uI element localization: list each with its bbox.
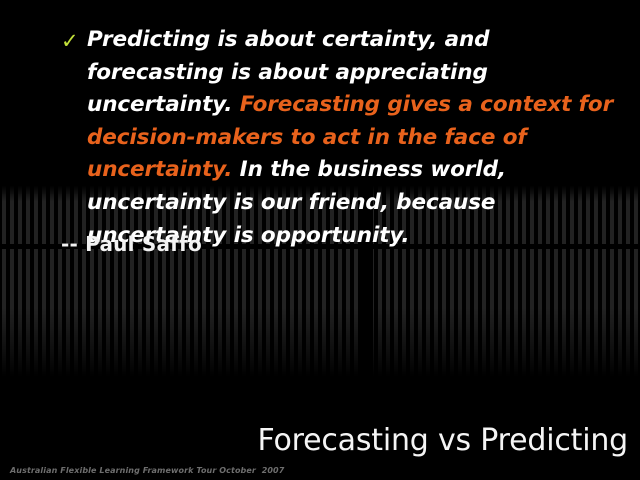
check-icon: ✓ [61, 30, 81, 52]
quote-paragraph: Predicting is about certainty, and forec… [87, 24, 617, 252]
slide-title: Forecasting vs Predicting [257, 423, 628, 459]
quote-row: ✓ Predicting is about certainty, and for… [57, 24, 617, 252]
slide-canvas: ✓ Predicting is about certainty, and for… [0, 0, 640, 480]
footer-note: Australian Flexible Learning Framework T… [10, 465, 284, 476]
quote-line-4-rest: In [232, 157, 263, 182]
quote-block: ✓ Predicting is about certainty, and for… [57, 24, 617, 252]
background-stripes-lower [0, 249, 640, 377]
quote-attribution: -- Paul Saffo [61, 231, 202, 257]
